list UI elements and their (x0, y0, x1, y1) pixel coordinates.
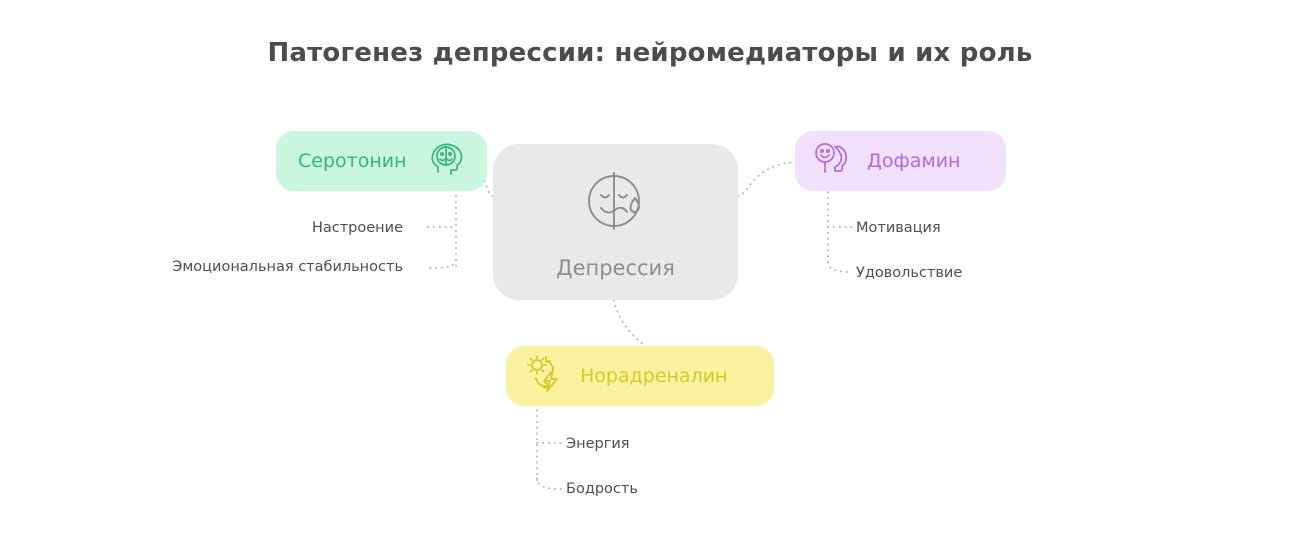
node-noradrenaline[interactable]: Норадреналин (506, 346, 774, 406)
connector-serotonin-leaf-1 (430, 262, 456, 268)
head-with-face-icon (429, 140, 467, 182)
connector-noradrenaline-leaf-1 (537, 478, 561, 489)
node-noradrenaline-label: Норадреналин (580, 365, 727, 387)
connector-dopamine-leaf-1 (828, 262, 851, 272)
leaf-serotonin-1: Эмоциональная стабильность (172, 259, 403, 275)
leaf-serotonin-0: Настроение (312, 220, 403, 236)
node-serotonin[interactable]: Серотонин (276, 131, 487, 191)
mindmap-canvas: Патогенез депрессии: нейромедиаторы и их… (0, 0, 1300, 546)
page-title: Патогенез депрессии: нейромедиаторы и их… (0, 38, 1300, 68)
leaf-noradrenaline-0: Энергия (566, 436, 630, 452)
leaf-dopamine-1: Удовольствие (856, 265, 962, 281)
head-with-smiley-icon (813, 140, 851, 182)
node-depression-label: Депрессия (556, 256, 675, 280)
node-dopamine[interactable]: Дофамин (795, 131, 1006, 191)
node-serotonin-label: Серотонин (298, 150, 407, 172)
connector-center-noradrenaline (614, 300, 646, 347)
leaf-noradrenaline-1: Бодрость (566, 481, 638, 497)
sun-lightning-bolt-icon (524, 353, 566, 399)
half-happy-half-sad-face-icon (579, 164, 653, 242)
leaf-dopamine-0: Мотивация (856, 220, 941, 236)
node-dopamine-label: Дофамин (867, 150, 960, 172)
connector-center-dopamine (738, 162, 795, 196)
node-depression[interactable]: Депрессия (493, 144, 738, 300)
